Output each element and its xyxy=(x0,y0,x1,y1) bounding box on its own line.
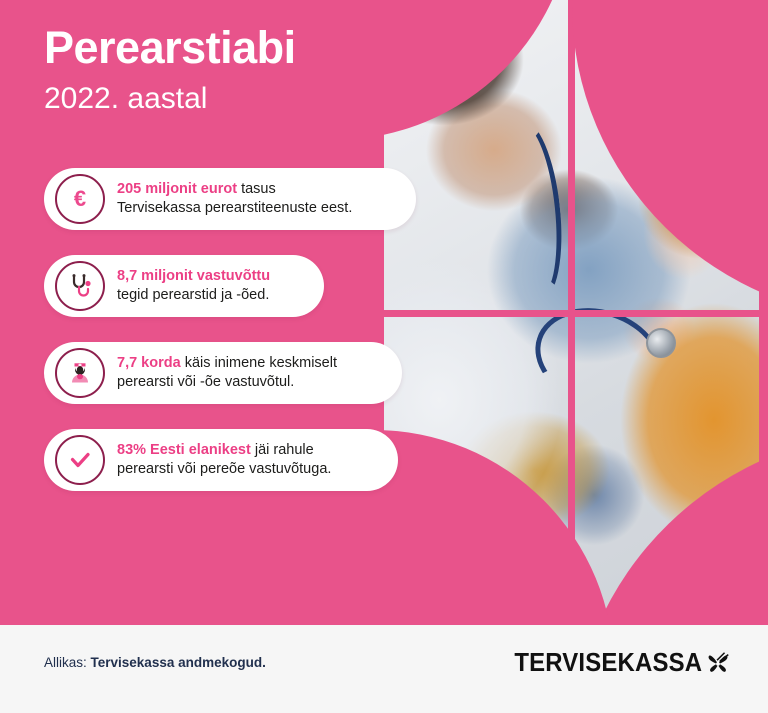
stethoscope-icon xyxy=(55,261,105,311)
brand-logo: TERVISEKASSA xyxy=(498,647,732,678)
stat-highlight: 8,7 miljonit vastuvõttu xyxy=(117,268,270,284)
stat-line-two: perearsti või -õe vastuvõtul. xyxy=(117,373,337,392)
stat-highlight: 7,7 korda xyxy=(117,355,181,371)
stat-card-euro: € 205 miljonit eurot tasus Tervisekassa … xyxy=(44,168,416,230)
euro-icon: € xyxy=(55,174,105,224)
stat-card-satisfaction: 83% Eesti elanikest jäi rahule perearsti… xyxy=(44,429,398,491)
footer-bar: Allikas: Tervisekassa andmekogud. TERVIS… xyxy=(0,625,768,713)
check-glyph xyxy=(68,448,92,472)
stat-line-two: Tervisekassa perearstiteenuste eest. xyxy=(117,199,352,218)
stat-line-two: perearsti või pereõe vastuvõtuga. xyxy=(117,460,331,479)
stat-rest: tasus xyxy=(237,181,276,197)
check-icon xyxy=(55,435,105,485)
source-label: Allikas: xyxy=(44,655,91,670)
butterfly-mark-icon xyxy=(704,649,732,677)
stat-card-frequency: 7,7 korda käis inimene keskmiselt perear… xyxy=(44,342,402,404)
stat-card-list: € 205 miljonit eurot tasus Tervisekassa … xyxy=(0,0,768,625)
stat-highlight: 83% Eesti elanikest xyxy=(117,442,251,458)
stat-rest: käis inimene keskmiselt xyxy=(181,355,337,371)
source-note: Allikas: Tervisekassa andmekogud. xyxy=(44,655,266,670)
stat-rest: jäi rahule xyxy=(251,442,314,458)
stat-card-text: 83% Eesti elanikest jäi rahule perearsti… xyxy=(117,441,345,479)
nurse-glyph xyxy=(67,360,93,386)
infographic-poster: Perearstiabi 2022. aastal € 205 miljonit… xyxy=(0,0,768,713)
stat-card-visits: 8,7 miljonit vastuvõttu tegid perearstid… xyxy=(44,255,324,317)
nurse-icon xyxy=(55,348,105,398)
pink-panel: Perearstiabi 2022. aastal € 205 miljonit… xyxy=(0,0,768,625)
logo-wordmark: TERVISEKASSA xyxy=(514,647,702,678)
stat-card-text: 8,7 miljonit vastuvõttu tegid perearstid… xyxy=(117,267,284,305)
stat-card-text: 205 miljonit eurot tasus Tervisekassa pe… xyxy=(117,180,366,218)
stat-line-two: tegid perearstid ja -õed. xyxy=(117,286,270,305)
source-value: Tervisekassa andmekogud. xyxy=(91,655,266,670)
stat-highlight: 205 miljonit eurot xyxy=(117,181,237,197)
stat-card-text: 7,7 korda käis inimene keskmiselt perear… xyxy=(117,354,351,392)
stethoscope-glyph xyxy=(67,273,93,299)
